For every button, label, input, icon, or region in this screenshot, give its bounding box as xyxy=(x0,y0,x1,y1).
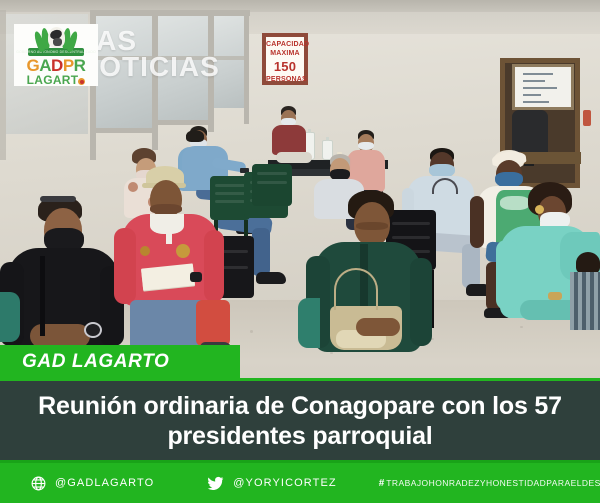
globe-icon xyxy=(30,475,47,492)
logo-sub-text: LAGART xyxy=(27,73,79,87)
headline-band: Reunión ordinaria de Conagopare con los … xyxy=(0,378,600,460)
source-label-text: GAD LAGARTO xyxy=(22,351,169,373)
headline-text: Reunión ordinaria de Conagopare con los … xyxy=(0,391,600,451)
whiteboard xyxy=(512,64,574,110)
watermark-line2: NOTICIAS xyxy=(78,54,258,80)
whiteboard-line xyxy=(523,80,545,82)
footer-website-label: @GADLAGARTO xyxy=(55,477,154,489)
whiteboard-line xyxy=(523,73,553,75)
capacity-line3: PERSONAS xyxy=(266,76,304,83)
whiteboard-line xyxy=(523,94,541,96)
footer-band: @GADLAGARTO @YORYICORTEZ # TRABAJOHONRAD… xyxy=(0,460,600,503)
logo-wordmark: GADPR xyxy=(27,57,86,74)
watermark: LAS NOTICIAS xyxy=(78,28,258,80)
hashtag-icon: # xyxy=(379,478,385,489)
footer-item-hashtag[interactable]: # TRABAJOHONRADEZYHONESTIDADPARAELDESARR… xyxy=(379,478,600,489)
window-sill xyxy=(158,120,208,125)
logo-crest xyxy=(31,27,81,51)
footer-item-website[interactable]: @GADLAGARTO xyxy=(30,475,154,492)
handbag-strap xyxy=(334,268,378,310)
wall-decor xyxy=(583,110,591,126)
gadpr-lagarto-logo: GOBIERNO AUTONOMO DESCENTRALIZADO GADPR … xyxy=(14,24,98,86)
source-label-band: GAD LAGARTO xyxy=(0,345,240,378)
window-header xyxy=(90,10,250,16)
logo-bird-icon xyxy=(48,27,65,48)
plastic-chair xyxy=(252,164,292,206)
floor-speckle xyxy=(330,352,333,354)
footer-twitter-label: @YORYICORTEZ xyxy=(233,477,336,489)
twitter-icon xyxy=(206,475,225,492)
news-card: CAPACIDAD MAXIMA 150 PERSONAS xyxy=(0,0,600,503)
whiteboard-line xyxy=(523,101,549,103)
capacity-number: 150 xyxy=(266,59,304,74)
logo-flower-icon xyxy=(78,78,85,85)
footer-hashtag-label: TRABAJOHONRADEZYHONESTIDADPARAELDESARROL… xyxy=(386,478,600,488)
footer-item-twitter[interactable]: @YORYICORTEZ xyxy=(206,475,336,492)
floor-speckle xyxy=(250,330,253,333)
whiteboard-line xyxy=(523,87,557,89)
window-sill xyxy=(96,128,152,133)
capacity-line2: MAXIMA xyxy=(266,50,304,57)
capacity-sign: CAPACIDAD MAXIMA 150 PERSONAS xyxy=(262,33,308,85)
floor-speckle xyxy=(520,326,523,328)
logo-subwordmark: LAGART xyxy=(27,74,86,86)
capacity-line1: CAPACIDAD xyxy=(266,41,304,48)
